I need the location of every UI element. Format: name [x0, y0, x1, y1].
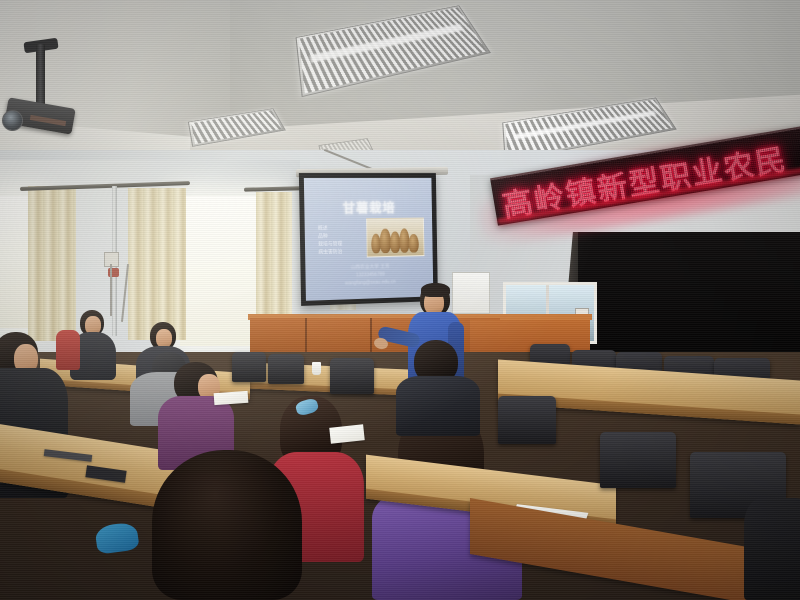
tuber-shape	[380, 229, 391, 254]
curtain[interactable]	[256, 192, 292, 332]
training-room-photo: 甘薯栽培 概述 品种 栽培与管理 病虫害防治 山西农业大学 王芳 1323345…	[0, 0, 800, 600]
attendee-torso	[744, 498, 800, 600]
chair[interactable]	[498, 396, 556, 444]
slide-image-sweet-potatoes	[366, 217, 424, 257]
slide-credits: 山西农业大学 王芳 13233456789 wangfang@sxau.edu.…	[305, 261, 433, 288]
chair[interactable]	[600, 432, 676, 488]
chair[interactable]	[232, 352, 266, 382]
projector-mount-pole	[36, 44, 45, 106]
slide-bullet: 病虫害防治	[318, 248, 342, 256]
projection-screen: 甘薯栽培 概述 品种 栽培与管理 病虫害防治 山西农业大学 王芳 1323345…	[299, 173, 438, 306]
attendee-head	[152, 450, 302, 600]
attendee-torso	[396, 376, 480, 436]
whiteboard	[452, 272, 490, 314]
chair[interactable]	[268, 354, 304, 384]
slide-bullet-list: 概述 品种 栽培与管理 病虫害防治	[318, 224, 343, 256]
slide-bullet: 栽培与管理	[318, 240, 342, 248]
attendee-red-vest	[56, 330, 80, 370]
slide-title: 甘薯栽培	[304, 197, 432, 217]
curtain[interactable]	[128, 188, 186, 340]
chair[interactable]	[330, 358, 374, 394]
paper-sheet[interactable]	[214, 391, 249, 405]
wall-cord	[110, 264, 112, 316]
projection-screen-surface: 甘薯栽培 概述 品种 栽培与管理 病虫害防治 山西农业大学 王芳 1323345…	[304, 178, 433, 301]
curtain[interactable]	[28, 186, 76, 341]
tuber-shape	[409, 234, 419, 253]
paper-cup	[312, 362, 321, 375]
presenter-hair	[421, 283, 450, 297]
